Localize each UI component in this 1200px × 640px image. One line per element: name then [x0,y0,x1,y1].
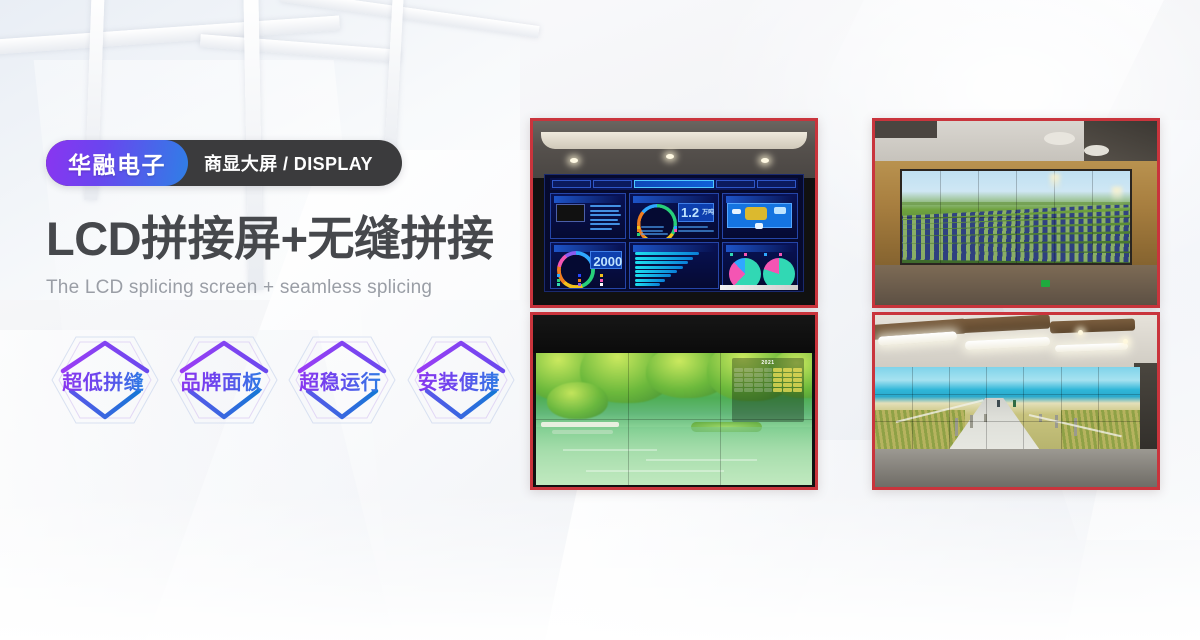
videowall-screen: 2021 [536,353,812,485]
dashboard-panel-flow [722,193,798,240]
ceiling-cove [541,132,806,149]
photo-beach-videowall [872,312,1160,490]
brand-name: 华融电子 [46,140,188,186]
dashboard-header [550,178,797,191]
photo-content [875,121,1157,305]
photo-content: 1.2 万吨 [533,121,815,305]
background-bottom-fade [0,490,1200,640]
dashboard-panel-bars [629,242,719,289]
calendar-title: 2021 [734,360,802,366]
photo-content: 2021 [533,315,815,487]
calendar-grid [734,368,802,392]
feature-label: 超稳运行 [299,366,381,395]
lake-water [536,427,812,485]
dashboard-title-tab [634,180,714,188]
ceiling [533,121,815,178]
screen-top-bezel [533,315,815,353]
videowall-screen [900,169,1131,265]
banner-copy-block: 华融电子 商显大屏 / DISPLAY LCD拼接屏+无缝拼接 The LCD … [46,140,516,435]
page-title: LCD拼接屏+无缝拼接 [46,214,516,263]
dashboard-panel-area: 2000 [550,242,626,289]
ceiling-fixture [1044,132,1075,145]
ceiling-fixture [1084,145,1109,156]
photo-dashboard-videowall: 1.2 万吨 [530,118,818,308]
ceiling-panel [875,121,937,138]
feature-label: 超低拼缝 [62,366,144,395]
videowall-screen [875,367,1140,450]
feature-label: 安装便捷 [418,366,500,395]
exit-sign-icon [1041,280,1050,287]
feature-label: 品牌面板 [181,366,263,395]
calendar-overlay: 2021 [732,358,804,422]
videowall-screen: 1.2 万吨 [544,174,803,292]
ceiling-spotlight [570,158,578,163]
kpi-value: 2000 [593,254,622,269]
feature-item-1: 超低拼缝 [46,325,161,435]
pie-chart [763,258,795,288]
brand-badge: 华融电子 商显大屏 / DISPLAY [46,140,402,186]
dashboard-tab [552,180,591,188]
dashboard-tab [757,180,796,188]
wall-lamp [1050,174,1060,190]
kpi-unit: 万吨 [702,207,714,216]
figure [1013,400,1016,407]
feature-list: 超低拼缝 品牌面板 超稳运行 [46,325,516,435]
ceiling-spotlight [666,154,674,159]
page-subtitle: The LCD splicing screen + seamless splic… [46,277,516,299]
dashboard-panel-kpi: 1.2 万吨 [629,193,719,240]
photo-garden-videowall: 2021 [530,312,818,490]
pie-chart [729,258,761,288]
figure [997,400,1000,407]
category-label: 商显大屏 / DISPLAY [188,140,393,186]
lower-wall [875,265,1157,305]
beach-grass [1061,410,1141,450]
kpi-value: 1.2 [681,205,699,220]
dashboard-tab [593,180,632,188]
feature-item-4: 安装便捷 [402,325,517,435]
photo-content [875,315,1157,487]
dashboard-panel-pies [722,242,798,289]
feature-item-2: 品牌面板 [165,325,280,435]
dashboard-tab [716,180,755,188]
feature-item-3: 超稳运行 [283,325,398,435]
dashboard-panel-grid: 1.2 万吨 [550,193,797,289]
wall-lamp [1112,187,1122,203]
photo-solar-videowall [872,118,1160,308]
floor [875,449,1157,487]
dashboard-panel [550,193,626,240]
